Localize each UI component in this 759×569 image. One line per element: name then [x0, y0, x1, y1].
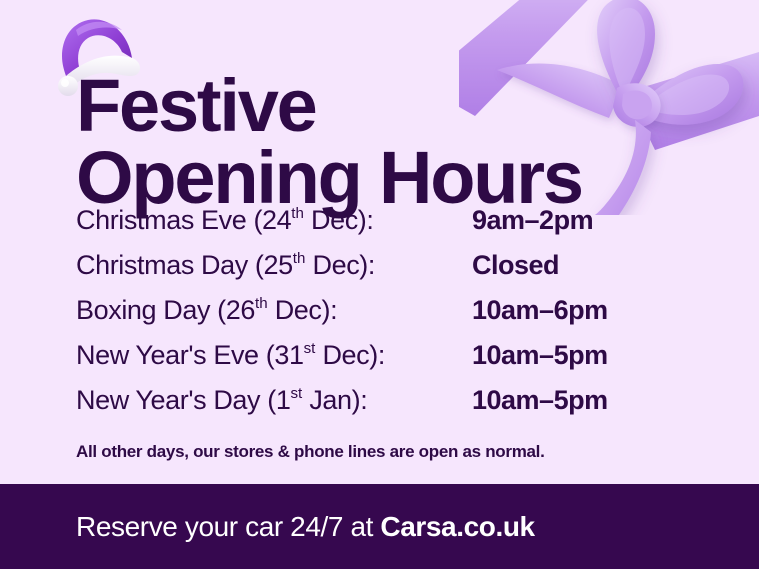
- footnote-text: All other days, our stores & phone lines…: [76, 442, 545, 462]
- hours-value: Closed: [472, 250, 559, 281]
- day-label: Christmas Eve (24th Dec):: [76, 205, 472, 236]
- ordinal-suffix: st: [304, 340, 316, 357]
- hours-row: Christmas Eve (24th Dec): 9am–2pm: [76, 205, 696, 250]
- footer-bar: Reserve your car 24/7 at Carsa.co.uk: [0, 484, 759, 569]
- hours-row: Boxing Day (26th Dec): 10am–6pm: [76, 295, 696, 340]
- ordinal-suffix: th: [255, 295, 268, 312]
- festive-opening-hours-poster: Festive Opening Hours Christmas Eve (24t…: [0, 0, 759, 569]
- heading-line-1: Festive: [76, 70, 676, 143]
- hours-value: 10am–5pm: [472, 385, 608, 416]
- heading-line-2: Opening Hours: [76, 142, 676, 215]
- hours-row: Christmas Day (25th Dec): Closed: [76, 250, 696, 295]
- hours-value: 9am–2pm: [472, 205, 593, 236]
- hours-row: New Year's Day (1st Jan): 10am–5pm: [76, 385, 696, 430]
- hours-value: 10am–6pm: [472, 295, 608, 326]
- footer-cta-prefix: Reserve your car 24/7 at: [76, 511, 380, 542]
- opening-hours-list: Christmas Eve (24th Dec): 9am–2pm Christ…: [76, 205, 696, 430]
- ordinal-suffix: st: [290, 385, 302, 402]
- hours-row: New Year's Eve (31st Dec): 10am–5pm: [76, 340, 696, 385]
- day-label: Boxing Day (26th Dec):: [76, 295, 472, 326]
- brand-name[interactable]: Carsa.co.uk: [380, 511, 534, 542]
- day-label: New Year's Eve (31st Dec):: [76, 340, 472, 371]
- page-title: Festive Opening Hours: [76, 70, 676, 215]
- day-label: Christmas Day (25th Dec):: [76, 250, 472, 281]
- footer-cta-text: Reserve your car 24/7 at Carsa.co.uk: [76, 511, 535, 543]
- hours-value: 10am–5pm: [472, 340, 608, 371]
- ordinal-suffix: th: [293, 250, 306, 267]
- ordinal-suffix: th: [291, 205, 304, 222]
- day-label: New Year's Day (1st Jan):: [76, 385, 472, 416]
